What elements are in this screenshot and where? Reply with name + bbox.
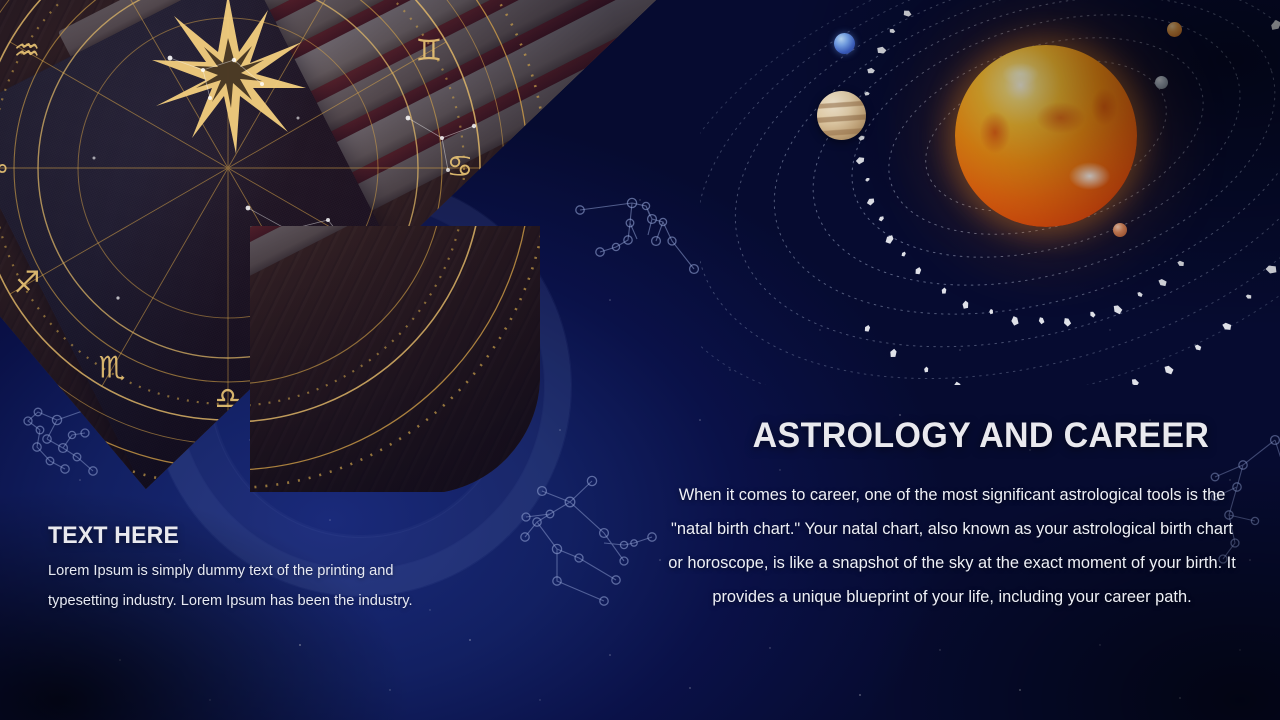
slide-root: ♈ ♉ ♊ ♋ ♌ ♍ ♎ ♏ ♐ ♑ ♒ ♓ bbox=[0, 0, 1280, 720]
page-title: ASTROLOGY AND CAREER bbox=[732, 418, 1231, 455]
books-photo-corner bbox=[250, 226, 540, 494]
left-body-text: Lorem Ipsum is simply dummy text of the … bbox=[48, 556, 440, 616]
left-heading: TEXT HERE bbox=[48, 522, 179, 550]
right-body-text: When it comes to career, one of the most… bbox=[664, 478, 1240, 614]
